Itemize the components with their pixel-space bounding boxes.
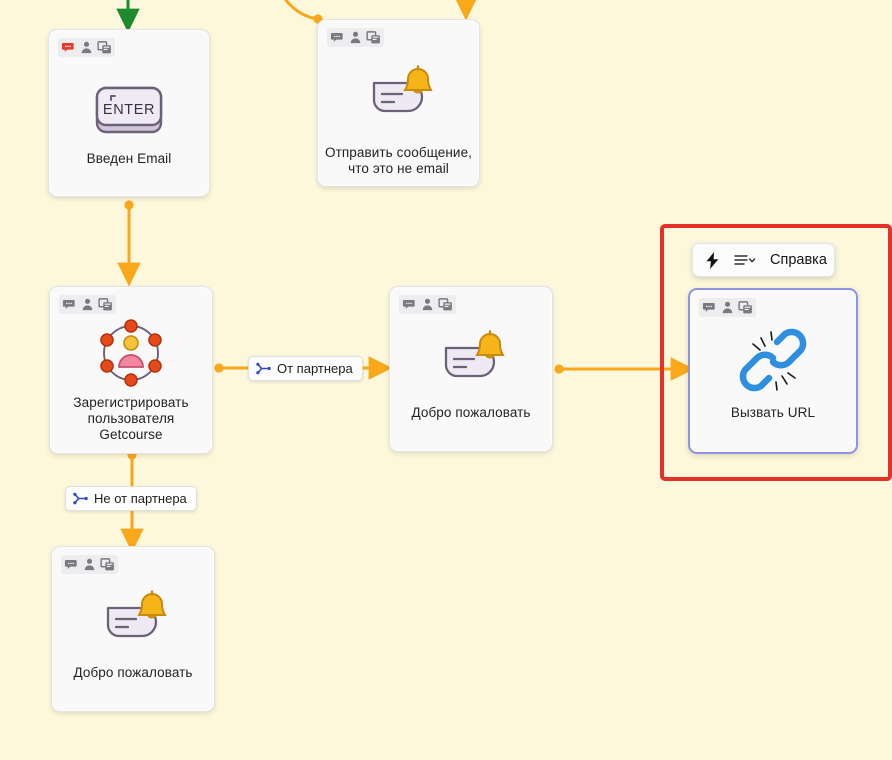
node-welcome-middle[interactable]: Добро пожаловать <box>389 286 553 452</box>
branch-split-icon <box>73 491 88 506</box>
copy-badge-icon[interactable] <box>97 40 112 55</box>
user-badge-icon[interactable] <box>720 300 735 315</box>
node-caption: Введен Email <box>55 151 203 167</box>
edge-label-not-from-partner[interactable]: Не от партнера <box>65 486 197 511</box>
node-caption-line-3: Getcourse <box>56 427 206 443</box>
user-badge-icon[interactable] <box>80 297 95 312</box>
copy-badge-icon[interactable] <box>438 297 453 312</box>
link-chain-icon <box>690 322 856 398</box>
node-send-not-email-message[interactable]: Отправить сообщение, что это не email <box>317 19 480 187</box>
comment-badge-icon[interactable] <box>702 300 717 315</box>
edge-label-from-partner[interactable]: От партнера <box>248 356 363 381</box>
node-email-entered[interactable]: ENTER Введен Email <box>48 29 210 197</box>
copy-badge-icon[interactable] <box>366 30 381 45</box>
copy-badge-icon[interactable] <box>738 300 753 315</box>
help-label[interactable]: Справка <box>770 252 827 268</box>
comment-badge-icon[interactable] <box>61 40 76 55</box>
branch-split-icon <box>256 361 271 376</box>
message-bell-icon <box>390 325 552 389</box>
comment-badge-icon[interactable] <box>62 297 77 312</box>
node-caption: Отправить сообщение, что это не email <box>324 145 473 177</box>
node-badges <box>699 298 756 317</box>
node-caption: Добро пожаловать <box>396 405 546 421</box>
node-caption: Вызвать URL <box>696 405 850 421</box>
node-caption-line-1: Отправить сообщение, <box>324 145 473 161</box>
node-caption: Добро пожаловать <box>58 665 208 681</box>
svg-text:ENTER: ENTER <box>103 102 155 118</box>
node-badges <box>327 28 384 47</box>
node-caption-line-1: Зарегистрировать <box>56 395 206 411</box>
comment-badge-icon[interactable] <box>402 297 417 312</box>
node-welcome-bottom[interactable]: Добро пожаловать <box>51 546 215 712</box>
user-badge-icon[interactable] <box>79 40 94 55</box>
node-caption-line-2: что это не email <box>324 161 473 177</box>
comment-badge-icon[interactable] <box>330 30 345 45</box>
flow-canvas[interactable]: ENTER Введен Email <box>0 0 892 760</box>
node-context-toolbar[interactable]: Справка <box>692 243 835 277</box>
node-caption: Зарегистрировать пользователя Getcourse <box>56 395 206 443</box>
node-call-url[interactable]: Вызвать URL <box>688 288 858 454</box>
node-badges <box>58 38 115 57</box>
copy-badge-icon[interactable] <box>100 557 115 572</box>
edge-label-text: Не от партнера <box>94 491 187 506</box>
enter-key-icon: ENTER <box>49 82 209 140</box>
user-badge-icon[interactable] <box>82 557 97 572</box>
edge-label-text: От партнера <box>277 361 353 376</box>
edge-email-to-register <box>124 200 133 274</box>
node-badges <box>61 555 118 574</box>
edge-curve-top-center <box>272 0 323 24</box>
copy-badge-icon[interactable] <box>98 297 113 312</box>
node-badges <box>59 295 116 314</box>
node-caption-line-2: пользователя <box>56 411 206 427</box>
node-badges <box>399 295 456 314</box>
comment-badge-icon[interactable] <box>64 557 79 572</box>
lightning-bolt-icon[interactable] <box>705 252 720 269</box>
message-bell-icon <box>318 60 479 124</box>
user-badge-icon[interactable] <box>348 30 363 45</box>
register-user-icon <box>50 316 212 390</box>
node-register-getcourse-user[interactable]: Зарегистрировать пользователя Getcourse <box>49 286 213 454</box>
message-bell-icon <box>52 585 214 649</box>
user-badge-icon[interactable] <box>420 297 435 312</box>
list-chevron-icon[interactable] <box>734 253 756 267</box>
